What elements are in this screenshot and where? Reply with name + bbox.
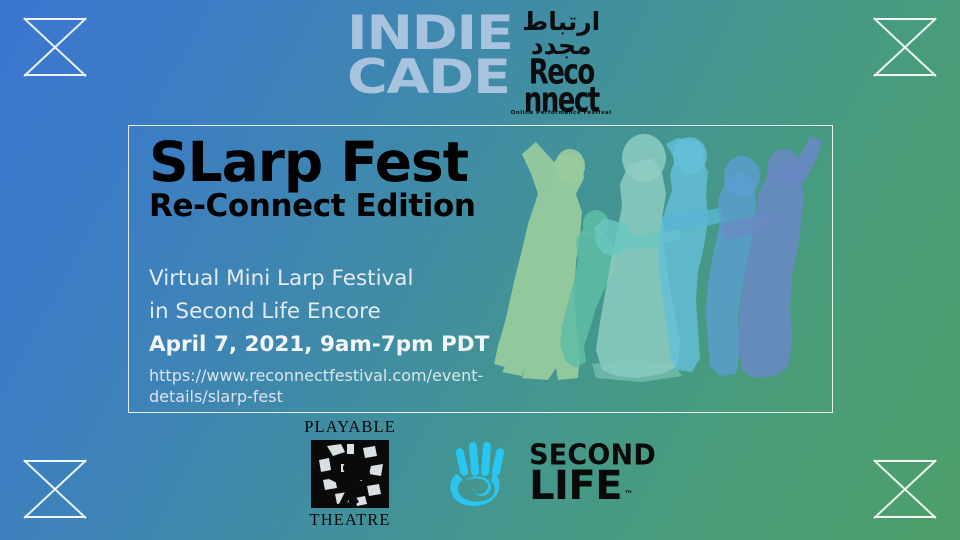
page-subtitle: Re-Connect Edition xyxy=(149,189,569,223)
event-date-time: April 7, 2021, 9am-7pm PDT xyxy=(149,329,569,362)
reconnect-wordmark-line-2: nnect xyxy=(509,87,613,116)
main-content-frame: SLarp Fest Re-Connect Edition Virtual Mi… xyxy=(128,125,833,413)
poster-canvas: INDIE CADE ارتباط مجدد Reco nnect Online… xyxy=(0,0,960,540)
detail-line-2: in Second Life Encore xyxy=(149,296,569,329)
detail-line-1: Virtual Mini Larp Festival xyxy=(149,263,569,296)
top-logo-row: INDIE CADE ارتباط مجدد Reco nnect Online… xyxy=(0,8,960,116)
indiecade-logo: INDIE CADE xyxy=(347,8,513,99)
playable-theatre-word-bottom: THEATRE xyxy=(304,510,396,531)
second-life-word-bottom: LIFE xyxy=(529,468,622,504)
bottom-logo-row: PLAYABLE xyxy=(0,414,960,534)
trademark-symbol: ™ xyxy=(624,491,633,504)
playable-theatre-artwork xyxy=(311,440,389,508)
second-life-word-bottom-row: LIFE ™ xyxy=(529,468,656,504)
page-title: SLarp Fest xyxy=(149,134,569,191)
playable-theatre-word-top: PLAYABLE xyxy=(304,417,396,438)
reconnect-wordmark: Reco nnect xyxy=(509,59,613,117)
reconnect-logo: ارتباط مجدد Reco nnect Online Performanc… xyxy=(509,8,613,116)
event-details: Virtual Mini Larp Festival in Second Lif… xyxy=(149,263,569,407)
second-life-word-top: SECOND xyxy=(529,443,656,469)
indiecade-line-2: CADE xyxy=(347,56,513,100)
second-life-hand-icon xyxy=(444,438,516,510)
second-life-logo: SECOND LIFE ™ xyxy=(444,438,656,510)
event-url-link[interactable]: https://www.reconnectfestival.com/event-… xyxy=(149,366,569,408)
playable-theatre-logo: PLAYABLE xyxy=(304,417,396,530)
event-text-block: SLarp Fest Re-Connect Edition Virtual Mi… xyxy=(149,134,569,408)
second-life-wordmark: SECOND LIFE ™ xyxy=(529,444,656,505)
reconnect-arabic-text: ارتباط مجدد xyxy=(509,10,613,58)
